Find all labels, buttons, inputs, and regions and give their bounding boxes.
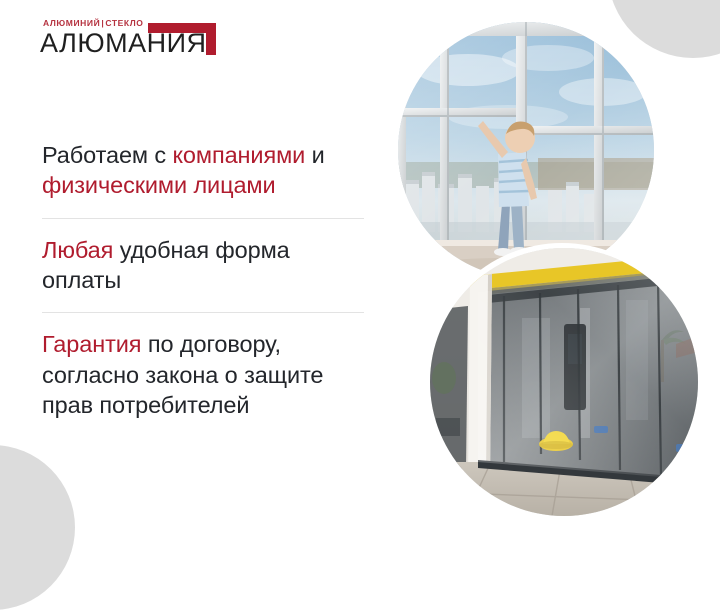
payment-text-run-0: Любая xyxy=(42,237,113,263)
brand-name: АЛЮМАНИЯ xyxy=(40,30,207,57)
clients-text-run-0: Работаем с xyxy=(42,142,172,168)
brand-tagline-separator: | xyxy=(101,18,104,28)
clients-text-run-2: и xyxy=(305,142,324,168)
logo-flag-tab-icon xyxy=(206,23,216,55)
avito-watermark: Avito xyxy=(628,505,706,528)
avito-dots-icon xyxy=(628,507,647,526)
claim-warranty: Гарантия по договору, согласно закона о … xyxy=(42,329,372,420)
photo-glass-partitions xyxy=(430,248,698,516)
brand-logo: АЛЮМИНИЙ|СТЕКЛО АЛЮМАНИЯ xyxy=(40,18,207,57)
photo-panoramic-window xyxy=(398,22,654,278)
warranty-text-run-0: Гарантия xyxy=(42,331,141,357)
claim-payment: Любая удобная форма оплаты xyxy=(42,235,372,296)
claim-divider-2 xyxy=(42,312,364,313)
claim-divider-1 xyxy=(42,218,364,219)
photo-panoramic-window-image xyxy=(398,22,654,278)
claim-clients: Работаем с компаниями и физическими лица… xyxy=(42,140,372,201)
clients-text-run-3: физическими лицами xyxy=(42,172,276,198)
clients-text-run-1: компаниями xyxy=(172,142,305,168)
photo-glass-partitions-image xyxy=(430,248,698,516)
claims-list: Работаем с компаниями и физическими лица… xyxy=(42,140,372,420)
brand-tagline-right: СТЕКЛО xyxy=(105,18,143,28)
brand-tagline-left: АЛЮМИНИЙ xyxy=(43,18,100,28)
avito-wordmark: Avito xyxy=(651,505,706,528)
decorative-circle-bottom-left xyxy=(0,445,75,610)
decorative-circle-top-right xyxy=(608,0,720,58)
